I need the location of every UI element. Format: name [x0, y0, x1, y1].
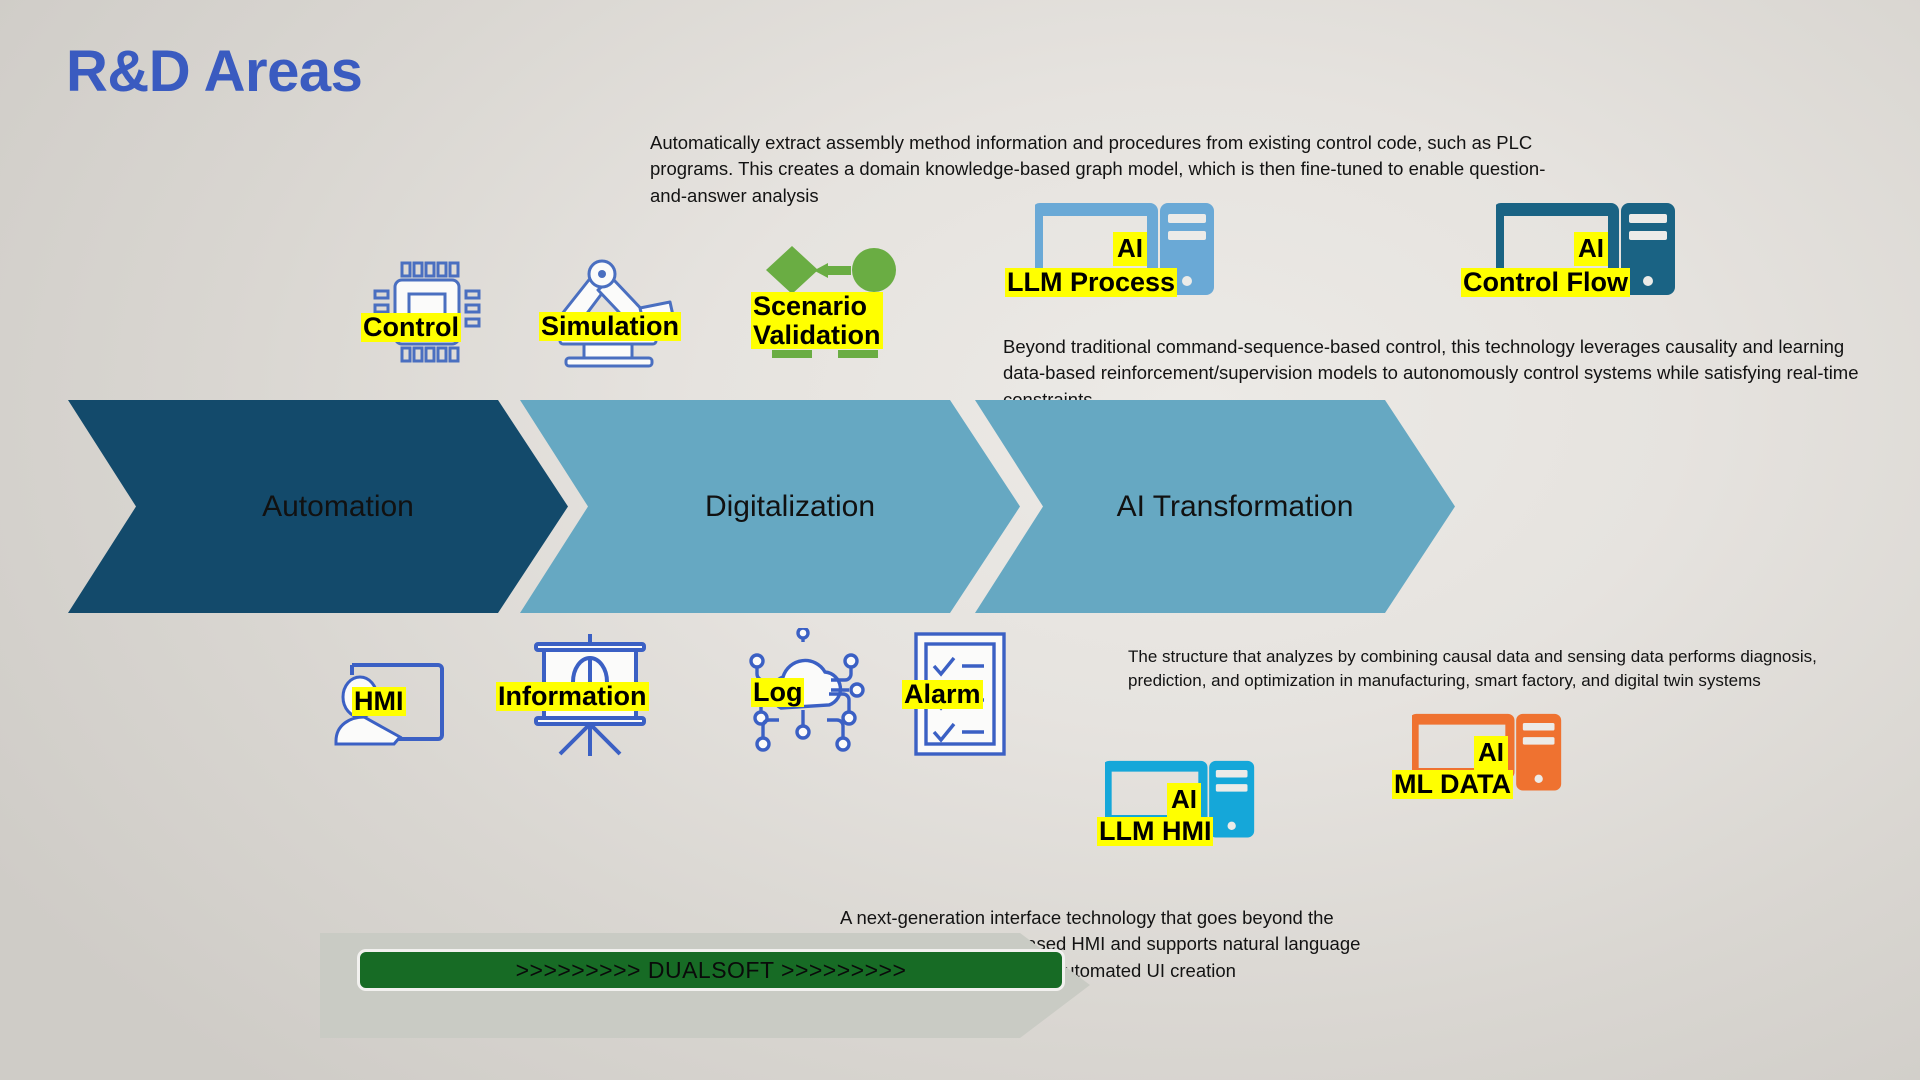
ai-badge: AI — [1474, 736, 1508, 770]
description-ml-data: The structure that analyzes by combining… — [1128, 645, 1868, 693]
icon-group-control[interactable]: Control — [362, 258, 492, 368]
icon-label-control-flow: Control Flow — [1461, 268, 1630, 297]
icon-label-ml-data: ML DATA — [1392, 770, 1513, 799]
page-title: R&D Areas — [66, 38, 362, 105]
icon-label-control: Control — [361, 313, 461, 342]
icon-group-information[interactable]: Information — [520, 630, 660, 760]
icon-label-simulation: Simulation — [539, 312, 681, 341]
icon-label-line2: Validation — [753, 321, 881, 350]
icon-label-hmi: HMI — [352, 687, 406, 716]
pipeline-band: Automation Digitalization AI Transformat… — [0, 400, 1500, 630]
icon-label-scenario-validation: Scenario Validation — [751, 292, 883, 349]
pipeline-stage-label: Automation — [68, 400, 568, 613]
pipeline-stage-ai-transformation[interactable]: AI Transformation — [975, 400, 1455, 613]
icon-label-line1: Scenario — [753, 292, 881, 321]
icon-group-log[interactable]: Log — [733, 628, 873, 760]
icon-label-llm-hmi: LLM HMI — [1097, 817, 1213, 846]
description-llm-process: Automatically extract assembly method in… — [650, 130, 1580, 209]
dualsoft-banner-text: >>>>>>>>> DUALSOFT >>>>>>>>> — [516, 957, 907, 984]
icon-group-simulation[interactable]: Simulation — [540, 252, 705, 370]
ai-badge: AI — [1574, 232, 1608, 266]
icon-group-scenario-validation[interactable]: Scenario Validation — [752, 236, 912, 381]
icon-group-alarm[interactable]: Alarm — [910, 630, 1010, 758]
pipeline-stage-digitalization[interactable]: Digitalization — [520, 400, 1020, 613]
icon-label-alarm: Alarm — [902, 680, 983, 709]
icon-group-ml-data[interactable]: AI ML DATA — [1412, 708, 1562, 813]
pipeline-stage-label: AI Transformation — [975, 400, 1455, 613]
icon-group-hmi[interactable]: HMI — [330, 645, 465, 755]
icon-group-llm-hmi[interactable]: AI LLM HMI — [1105, 755, 1255, 860]
icon-label-llm-process: LLM Process — [1005, 268, 1177, 297]
ai-badge: AI — [1167, 783, 1201, 817]
icon-label-log: Log — [751, 678, 804, 707]
icon-group-control-flow[interactable]: AI Control Flow — [1496, 200, 1676, 310]
ai-badge: AI — [1113, 232, 1147, 266]
icon-group-llm-process[interactable]: AI LLM Process — [1035, 200, 1215, 310]
dualsoft-banner[interactable]: >>>>>>>>> DUALSOFT >>>>>>>>> — [357, 949, 1065, 991]
icon-label-information: Information — [496, 682, 649, 711]
slide-canvas: R&D Areas Automatically extract assembly… — [0, 0, 1920, 1080]
pipeline-stage-automation[interactable]: Automation — [68, 400, 568, 613]
pipeline-stage-label: Digitalization — [520, 400, 1020, 613]
